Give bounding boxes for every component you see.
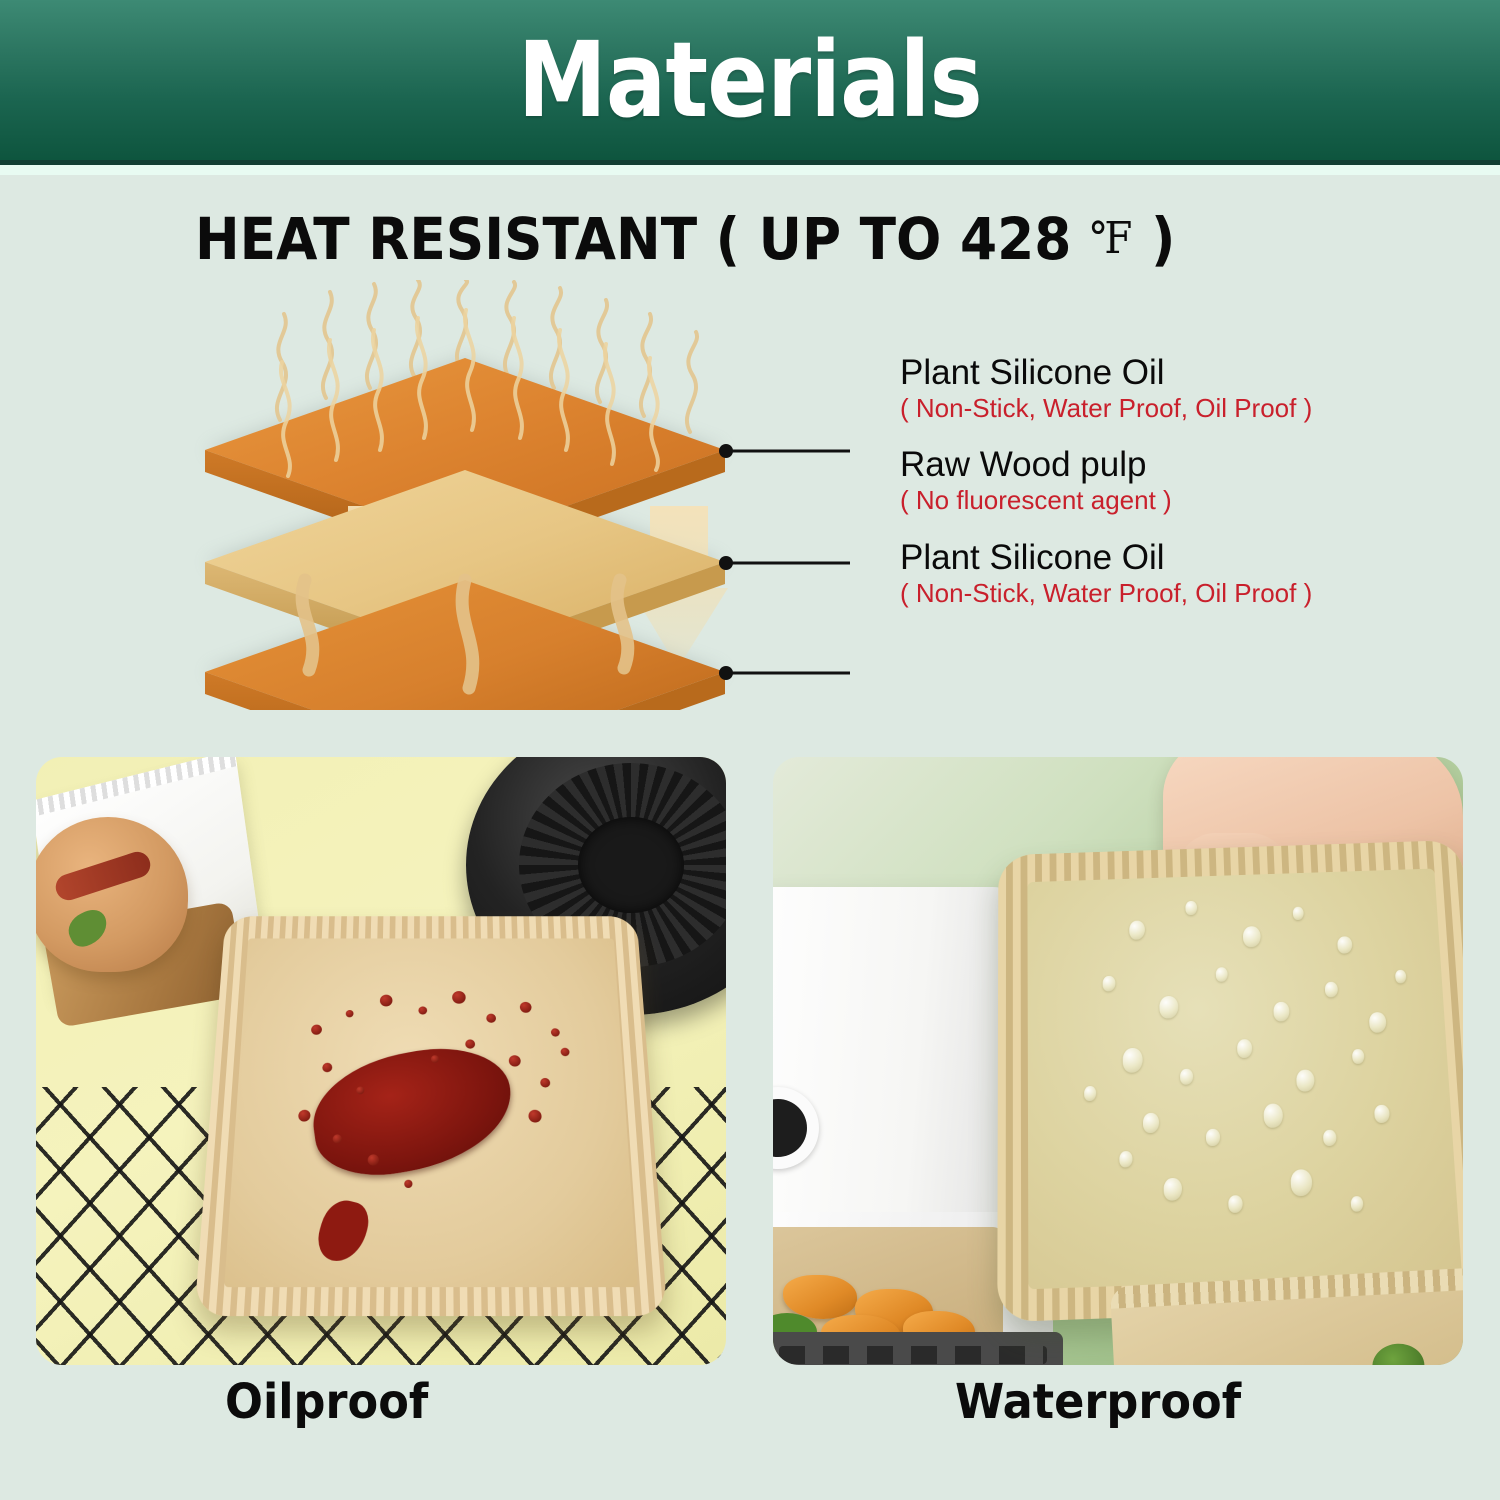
oilproof-caption: Oilproof bbox=[225, 1374, 428, 1430]
paper-liner-with-water bbox=[997, 840, 1463, 1322]
degree-fahrenheit-symbol: ℉ bbox=[1090, 213, 1132, 264]
callout-top: Plant Silicone Oil ( Non-Stick, Water Pr… bbox=[900, 355, 1420, 422]
callout-title: Raw Wood pulp bbox=[900, 447, 1420, 484]
burger-greens bbox=[63, 905, 113, 951]
callout-subtitle: ( Non-Stick, Water Proof, Oil Proof ) bbox=[900, 394, 1420, 423]
page-header: Materials bbox=[0, 0, 1500, 160]
callout-subtitle: ( No fluorescent agent ) bbox=[900, 486, 1420, 515]
callout-middle: Raw Wood pulp ( No fluorescent agent ) bbox=[900, 447, 1420, 514]
callout-title: Plant Silicone Oil bbox=[900, 540, 1420, 577]
heading-prefix: HEAT RESISTANT ( UP TO 428 bbox=[195, 205, 1090, 273]
burger bbox=[36, 817, 188, 972]
waterproof-caption: Waterproof bbox=[955, 1374, 1241, 1430]
paper-liner-with-oil bbox=[194, 916, 668, 1316]
broccoli bbox=[1371, 1342, 1425, 1365]
oilproof-photo bbox=[36, 757, 726, 1365]
layer-diagram bbox=[130, 280, 850, 710]
waterproof-photo bbox=[773, 757, 1463, 1365]
air-fryer-knob bbox=[773, 1087, 819, 1169]
callout-title: Plant Silicone Oil bbox=[900, 355, 1420, 392]
callout-subtitle: ( Non-Stick, Water Proof, Oil Proof ) bbox=[900, 579, 1420, 608]
nugget bbox=[783, 1275, 857, 1319]
air-fryer-body bbox=[773, 887, 1033, 1237]
header-highlight-line bbox=[0, 165, 1500, 175]
callout-bottom: Plant Silicone Oil ( Non-Stick, Water Pr… bbox=[900, 540, 1420, 607]
callout-leader-lines bbox=[719, 444, 850, 680]
nugget bbox=[1432, 1358, 1463, 1365]
water-droplets bbox=[997, 840, 1463, 1322]
heat-resistant-heading: HEAT RESISTANT ( UP TO 428 ℉ ) bbox=[195, 205, 1175, 273]
oil-droplets bbox=[194, 916, 668, 1316]
heading-suffix: ) bbox=[1132, 205, 1175, 273]
page-title: Materials bbox=[518, 28, 982, 132]
drawer-lip bbox=[773, 1332, 1063, 1365]
